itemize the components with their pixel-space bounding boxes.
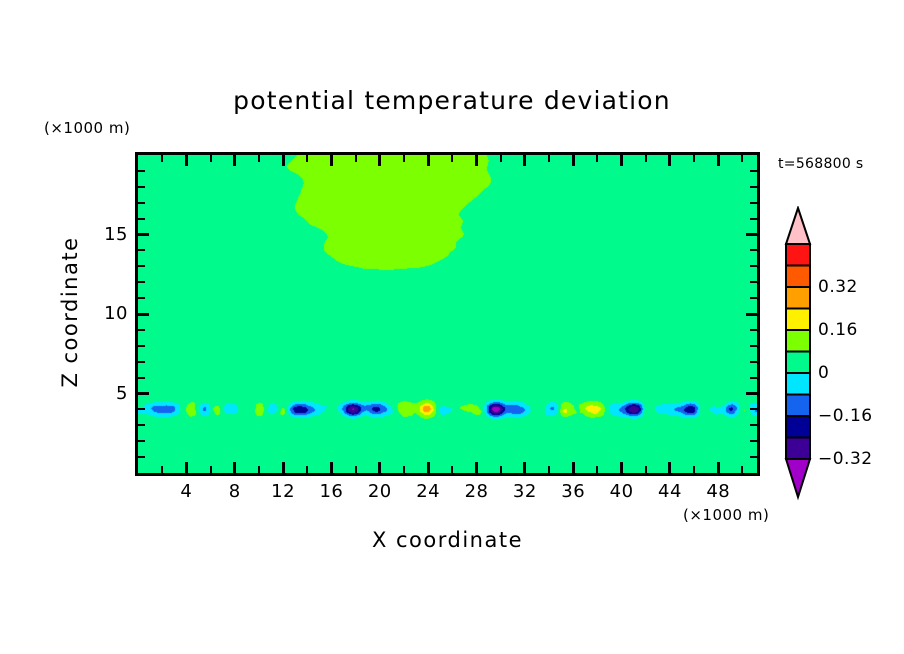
- x-tick-top-44: [668, 155, 671, 166]
- y-tick-right-13: [750, 265, 757, 267]
- y-tick-2: [138, 440, 145, 442]
- x-tick-label-48: 48: [688, 481, 748, 502]
- colorbar-label-016-neg: −0.16: [818, 406, 873, 426]
- x-tick-top-28: [475, 155, 478, 166]
- x-tick-44: [668, 462, 671, 473]
- y-tick-right-11: [750, 297, 757, 299]
- x-tick-top-40: [620, 155, 623, 166]
- y-tick-right-3: [750, 424, 757, 426]
- y-tick-right-2: [750, 440, 757, 442]
- timestamp-label: t=568800 s: [778, 156, 863, 172]
- x-tick-top-26: [451, 155, 453, 162]
- x-tick-34: [548, 466, 550, 473]
- x-tick-top-32: [523, 155, 526, 166]
- y-tick-right-1: [750, 456, 757, 458]
- y-tick-6: [138, 377, 145, 379]
- y-tick-15: [138, 233, 149, 236]
- contour-plot-area: [135, 152, 760, 476]
- x-tick-top-42: [645, 155, 647, 162]
- colorbar-band-3: [786, 309, 810, 331]
- x-tick-32: [523, 462, 526, 473]
- y-tick-17: [138, 202, 145, 204]
- x-tick-24: [427, 462, 430, 473]
- colorbar-band-5: [786, 352, 810, 374]
- y-tick-19: [138, 170, 145, 172]
- y-tick-right-16: [750, 218, 757, 220]
- y-tick-right-6: [750, 377, 757, 379]
- x-tick-top-50: [741, 155, 743, 162]
- colorbar-label-0: 0: [818, 363, 829, 383]
- x-tick-top-6: [210, 155, 212, 162]
- x-axis-title: X coordinate: [135, 528, 760, 552]
- x-tick-top-16: [330, 155, 333, 166]
- x-tick-top-46: [693, 155, 695, 162]
- x-tick-top-20: [378, 155, 381, 166]
- x-axis-unit-label: (×1000 m): [683, 506, 769, 524]
- x-tick-42: [645, 466, 647, 473]
- y-tick-7: [138, 361, 145, 363]
- x-tick-8: [233, 462, 236, 473]
- x-tick-46: [693, 466, 695, 473]
- y-tick-16: [138, 218, 145, 220]
- y-tick-13: [138, 265, 145, 267]
- x-tick-36: [572, 462, 575, 473]
- y-tick-right-5: [746, 392, 757, 395]
- colorbar-under-cap: [786, 459, 810, 497]
- y-tick-3: [138, 424, 145, 426]
- y-tick-18: [138, 186, 145, 188]
- y-tick-right-9: [750, 329, 757, 331]
- y-tick-right-12: [750, 281, 757, 283]
- y-tick-right-15: [746, 233, 757, 236]
- x-tick-28: [475, 462, 478, 473]
- x-tick-50: [741, 466, 743, 473]
- y-axis-title: Z coordinate: [58, 212, 82, 412]
- y-tick-14: [138, 249, 145, 251]
- y-tick-label-10: 10: [94, 303, 128, 324]
- x-tick-top-4: [185, 155, 188, 166]
- x-tick-14: [306, 466, 308, 473]
- y-tick-right-17: [750, 202, 757, 204]
- colorbar-band-1: [786, 266, 810, 288]
- y-tick-11: [138, 297, 145, 299]
- x-tick-top-10: [258, 155, 260, 162]
- x-tick-40: [620, 462, 623, 473]
- colorbar-band-0: [786, 244, 810, 266]
- x-tick-48: [717, 462, 720, 473]
- x-tick-38: [596, 466, 598, 473]
- colorbar: [784, 206, 812, 501]
- y-tick-label-15: 15: [94, 224, 128, 245]
- x-tick-top-24: [427, 155, 430, 166]
- colorbar-swatches: [784, 206, 812, 501]
- y-tick-5: [138, 392, 149, 395]
- colorbar-over-cap: [786, 208, 810, 244]
- x-tick-top-38: [596, 155, 598, 162]
- colorbar-label-032: 0.32: [818, 277, 858, 297]
- x-tick-30: [500, 466, 502, 473]
- x-tick-16: [330, 462, 333, 473]
- x-tick-6: [210, 466, 212, 473]
- colorbar-label-016: 0.16: [818, 320, 858, 340]
- colorbar-band-2: [786, 287, 810, 309]
- colorbar-band-4: [786, 330, 810, 352]
- x-tick-top-48: [717, 155, 720, 166]
- x-tick-2: [161, 466, 163, 473]
- x-tick-top-18: [355, 155, 357, 162]
- x-tick-12: [282, 462, 285, 473]
- colorbar-band-6: [786, 373, 810, 395]
- page-title: potential temperature deviation: [0, 86, 904, 115]
- contour-field: [138, 155, 757, 473]
- y-tick-4: [138, 408, 145, 410]
- y-tick-right-19: [750, 170, 757, 172]
- x-tick-top-12: [282, 155, 285, 166]
- x-tick-top-8: [233, 155, 236, 166]
- y-tick-right-14: [750, 249, 757, 251]
- x-tick-22: [403, 466, 405, 473]
- colorbar-band-8: [786, 416, 810, 438]
- y-tick-9: [138, 329, 145, 331]
- y-tick-right-4: [750, 408, 757, 410]
- x-tick-top-36: [572, 155, 575, 166]
- x-tick-26: [451, 466, 453, 473]
- y-tick-10: [138, 313, 149, 316]
- y-tick-right-8: [750, 345, 757, 347]
- y-tick-right-7: [750, 361, 757, 363]
- colorbar-band-7: [786, 395, 810, 417]
- x-tick-top-14: [306, 155, 308, 162]
- x-tick-20: [378, 462, 381, 473]
- z-axis-unit-label: (×1000 m): [44, 119, 130, 137]
- x-tick-4: [185, 462, 188, 473]
- x-tick-18: [355, 466, 357, 473]
- y-tick-right-10: [746, 313, 757, 316]
- x-tick-top-22: [403, 155, 405, 162]
- colorbar-band-9: [786, 438, 810, 460]
- x-tick-top-34: [548, 155, 550, 162]
- y-tick-right-18: [750, 186, 757, 188]
- y-tick-label-5: 5: [94, 383, 128, 404]
- colorbar-label-032-neg: −0.32: [818, 449, 873, 469]
- y-tick-8: [138, 345, 145, 347]
- y-tick-1: [138, 456, 145, 458]
- y-tick-12: [138, 281, 145, 283]
- x-tick-10: [258, 466, 260, 473]
- x-tick-top-2: [161, 155, 163, 162]
- x-tick-top-30: [500, 155, 502, 162]
